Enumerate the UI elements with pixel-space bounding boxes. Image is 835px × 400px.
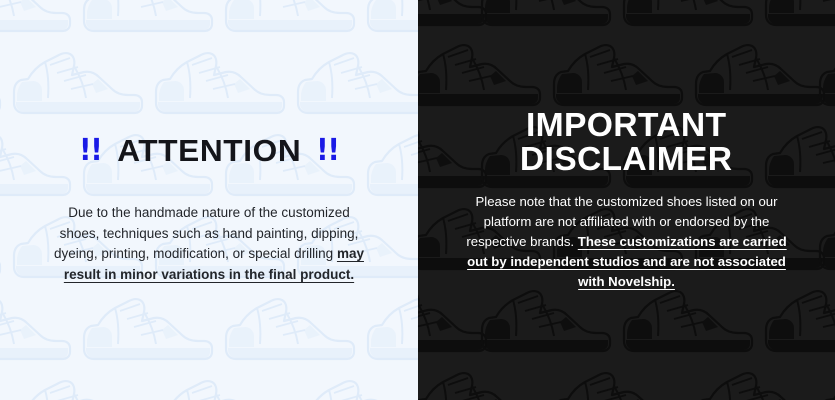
attention-heading-row: !! ATTENTION !! (79, 115, 339, 188)
attention-panel: !! ATTENTION !! Due to the handmade natu… (0, 0, 418, 400)
attention-heading: ATTENTION (117, 135, 301, 166)
attention-body-plain: Due to the handmade nature of the custom… (54, 205, 358, 261)
disclaimer-panel: IMPORTANT DISCLAIMER Please note that th… (418, 0, 835, 400)
double-exclamation-icon-right: !! (316, 136, 339, 166)
disclaimer-content: IMPORTANT DISCLAIMER Please note that th… (418, 0, 835, 400)
disclaimer-heading-line-1: IMPORTANT (520, 108, 733, 142)
disclaimer-body: Please note that the customized shoes li… (462, 192, 791, 292)
double-exclamation-icon-left: !! (79, 136, 102, 166)
disclaimer-banner: !! ATTENTION !! Due to the handmade natu… (0, 0, 835, 400)
attention-body: Due to the handmade nature of the custom… (50, 203, 368, 285)
disclaimer-heading-line-2: DISCLAIMER (520, 142, 733, 176)
disclaimer-heading: IMPORTANT DISCLAIMER (520, 108, 733, 176)
attention-content: !! ATTENTION !! Due to the handmade natu… (0, 0, 418, 400)
